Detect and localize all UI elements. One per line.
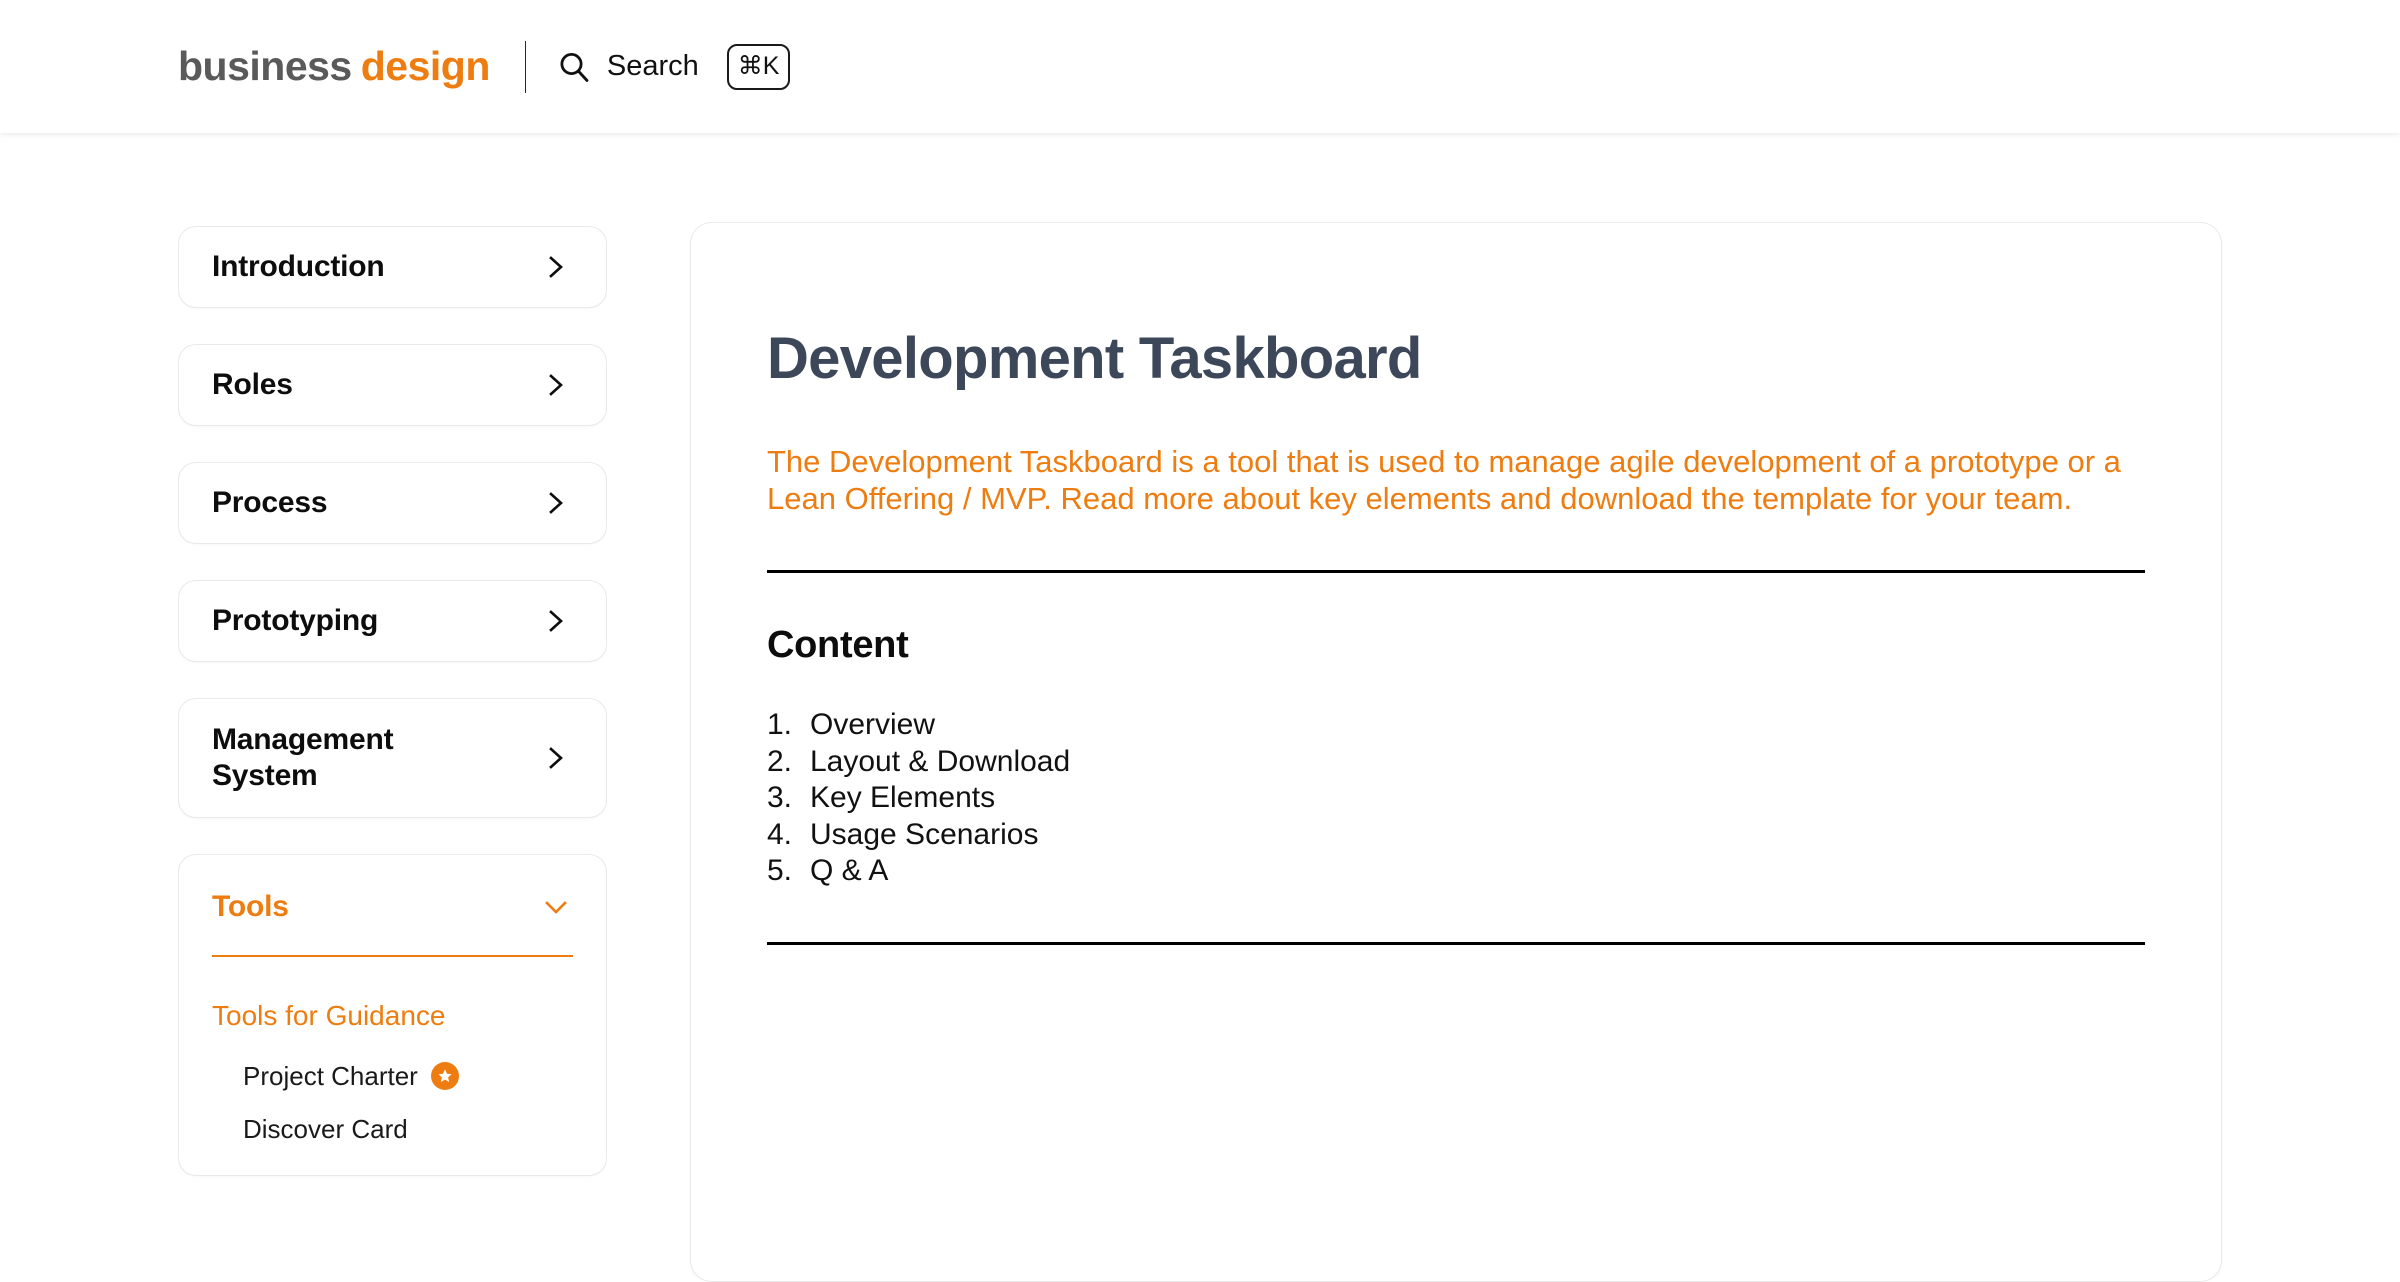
table-of-contents: 1. Overview 2. Layout & Download 3. Key … — [767, 707, 2145, 890]
sidebar-item-label: Tools — [212, 889, 289, 925]
tools-item-project-charter[interactable]: Project Charter — [212, 1061, 573, 1092]
list-item[interactable]: 4. Usage Scenarios — [767, 817, 2145, 854]
toc-number: 2. — [767, 744, 801, 781]
search-button[interactable]: Search ⌘K — [557, 44, 791, 90]
sidebar-item-prototyping[interactable]: Prototyping — [178, 580, 607, 662]
app-header: businessdesign Search ⌘K — [0, 0, 2400, 133]
brand-logo[interactable]: businessdesign — [178, 46, 490, 87]
search-label: Search — [607, 52, 699, 81]
content-heading: Content — [767, 625, 2145, 667]
star-icon — [431, 1062, 459, 1090]
sidebar-nav: Introduction Roles Process — [178, 226, 607, 1268]
sidebar-item-label: Roles — [212, 367, 293, 403]
chevron-right-icon[interactable] — [539, 368, 573, 402]
header-divider — [525, 41, 526, 93]
toc-label: Key Elements — [810, 780, 995, 817]
tools-divider — [212, 955, 573, 957]
sidebar-item-tools-header[interactable]: Tools — [212, 877, 573, 937]
content-divider-top — [767, 570, 2145, 573]
brand-logo-design: design — [361, 43, 490, 89]
toc-number: 5. — [767, 853, 801, 890]
chevron-right-icon[interactable] — [539, 604, 573, 638]
tools-sublist: Project Charter Discover Card — [212, 1061, 573, 1145]
sidebar-item-process[interactable]: Process — [178, 462, 607, 544]
toc-number: 3. — [767, 780, 801, 817]
main-content-card: Development Taskboard The Development Ta… — [690, 222, 2222, 1282]
sidebar-item-label: Prototyping — [212, 603, 378, 639]
tools-group-title: Tools for Guidance — [212, 999, 573, 1033]
toc-number: 4. — [767, 817, 801, 854]
toc-label: Q & A — [810, 853, 888, 890]
brand-logo-business: business — [178, 43, 352, 89]
page-title: Development Taskboard — [767, 327, 2145, 391]
sidebar-item-label: Introduction — [212, 249, 385, 285]
page-intro-paragraph: The Development Taskboard is a tool that… — [767, 443, 2145, 517]
list-item[interactable]: 3. Key Elements — [767, 780, 2145, 817]
list-item[interactable]: 1. Overview — [767, 707, 2145, 744]
search-icon — [557, 50, 591, 84]
tools-item-label: Project Charter — [243, 1061, 418, 1092]
chevron-right-icon[interactable] — [539, 250, 573, 284]
page-body: Introduction Roles Process — [0, 133, 2400, 1256]
sidebar-item-roles[interactable]: Roles — [178, 344, 607, 426]
chevron-right-icon[interactable] — [539, 486, 573, 520]
list-item[interactable]: 2. Layout & Download — [767, 744, 2145, 781]
sidebar-item-label: Process — [212, 485, 327, 521]
sidebar-item-introduction[interactable]: Introduction — [178, 226, 607, 308]
sidebar-item-label: Management System — [212, 722, 442, 794]
content-divider-bottom — [767, 942, 2145, 945]
toc-label: Layout & Download — [810, 744, 1070, 781]
tools-item-label: Discover Card — [243, 1114, 408, 1145]
list-item[interactable]: 5. Q & A — [767, 853, 2145, 890]
tools-item-discover-card[interactable]: Discover Card — [212, 1114, 573, 1145]
search-shortcut-badge: ⌘K — [727, 44, 791, 90]
toc-label: Usage Scenarios — [810, 817, 1038, 854]
chevron-right-icon[interactable] — [539, 741, 573, 775]
header-inner: businessdesign Search ⌘K — [0, 0, 790, 133]
chevron-down-icon[interactable] — [539, 890, 573, 924]
toc-number: 1. — [767, 707, 801, 744]
toc-label: Overview — [810, 707, 935, 744]
sidebar-item-management-system[interactable]: Management System — [178, 698, 607, 818]
sidebar-item-tools: Tools Tools for Guidance Project Charter — [178, 854, 607, 1176]
